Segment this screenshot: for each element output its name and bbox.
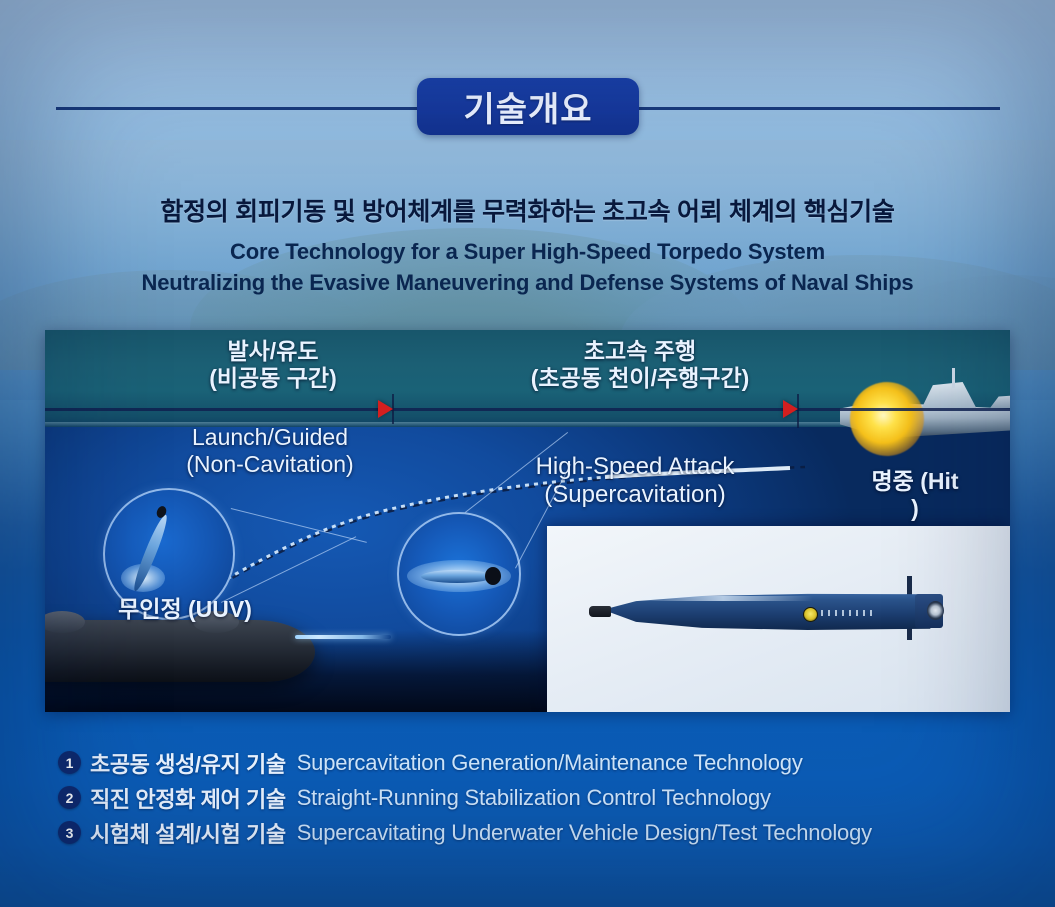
list-item-english: Straight-Running Stabilization Control T…: [297, 785, 771, 811]
torpedo-propulsor: [927, 601, 944, 620]
list-number-badge: 1: [58, 751, 81, 774]
uuv-vessel: [45, 620, 315, 682]
list-item-korean: 시험체 설계/시험 기술: [90, 817, 286, 849]
list-number-badge: 3: [58, 821, 81, 844]
ship-superstructure: [918, 382, 980, 408]
list-item-korean: 초공동 생성/유지 기술: [90, 747, 286, 779]
list-item-korean: 직진 안정화 제어 기술: [90, 782, 286, 814]
torpedo-highlight: [633, 596, 813, 601]
technology-list: 1 초공동 생성/유지 기술 Supercavitation Generatio…: [58, 745, 1018, 850]
list-item: 2 직진 안정화 제어 기술 Straight-Running Stabiliz…: [58, 780, 1018, 815]
list-item: 1 초공동 생성/유지 기술 Supercavitation Generatio…: [58, 745, 1018, 780]
torpedo-markings: [821, 610, 873, 616]
page-title: 기술개요: [463, 82, 592, 131]
subtitle-line-2: Neutralizing the Evasive Maneuvering and…: [0, 267, 1055, 298]
label-hit: 명중 (Hit ): [835, 468, 995, 522]
list-item: 3 시험체 설계/시험 기술 Supercavitating Underwate…: [58, 815, 1018, 850]
label-highspeed-ko: 초고속 주행 (초공동 천이/주행구간): [490, 338, 790, 392]
diagram-panel: 발사/유도 (비공동 구간) Launch/Guided (Non-Cavita…: [45, 330, 1010, 712]
label-uuv: 무인정 (UUV): [70, 596, 300, 623]
magnifier-supercavitation: [397, 512, 521, 636]
subtitle-line-1: Core Technology for a Super High-Speed T…: [0, 236, 1055, 267]
torpedo-nose-right: [485, 567, 501, 585]
list-item-english: Supercavitation Generation/Maintenance T…: [297, 750, 803, 776]
arrow-marker-right: [783, 400, 798, 418]
torpedo-nose-cavitator: [589, 606, 611, 617]
label-highspeed-en: High-Speed Attack (Supercavitation): [485, 453, 785, 510]
label-launch-ko: 발사/유도 (비공동 구간): [153, 338, 393, 392]
label-launch-en: Launch/Guided (Non-Cavitation): [120, 424, 420, 478]
list-number-badge: 2: [58, 786, 81, 809]
subtitle-english: Core Technology for a Super High-Speed T…: [0, 236, 1055, 298]
torpedo-emblem-icon: [803, 607, 818, 622]
headline-korean: 함정의 회피기동 및 방어체계를 무력화하는 초고속 어뢰 체계의 핵심기술: [0, 192, 1055, 228]
arrow-marker-left: [378, 400, 393, 418]
trajectory-line: [45, 408, 1010, 411]
torpedo-model-right: [421, 570, 493, 583]
list-item-english: Supercavitating Underwater Vehicle Desig…: [297, 820, 872, 846]
launched-torpedo-trail: [295, 635, 391, 639]
page-title-badge: 기술개요: [417, 78, 639, 135]
ship-deck-structure: [990, 394, 1010, 408]
ship-mast: [952, 368, 955, 388]
torpedo-photo: [589, 588, 944, 636]
torpedo-photo-inset: [547, 526, 1010, 712]
